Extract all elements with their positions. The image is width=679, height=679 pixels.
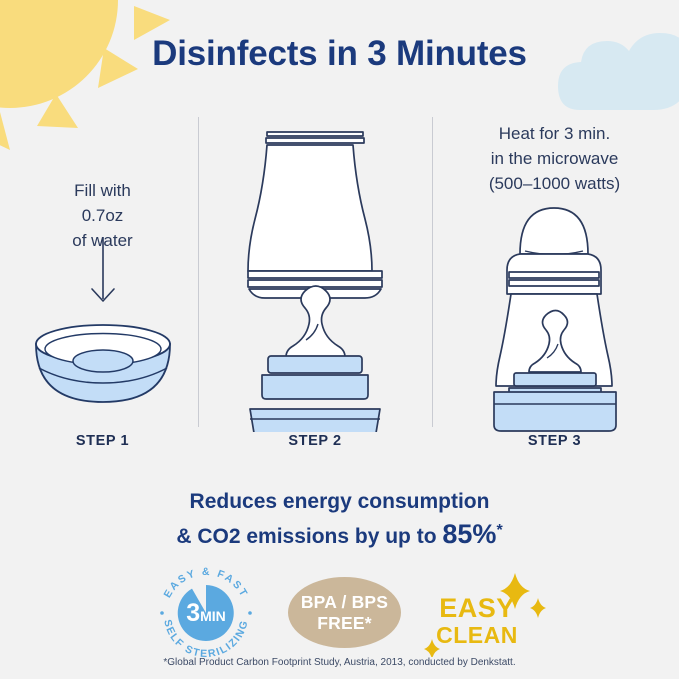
badge-bpa-line-1: BPA / BPS: [301, 592, 388, 613]
eco-claim-value: 85%: [442, 519, 496, 549]
column-divider-2: [432, 117, 433, 427]
step-column-2: STEP 2: [200, 110, 430, 455]
step-1-label: STEP 1: [10, 433, 195, 449]
badge-easy-clean-line-2: CLEAN: [420, 622, 534, 649]
eco-claim: Reduces energy consumption & CO2 emissio…: [0, 487, 679, 551]
step-1-caption-line-1: Fill with: [10, 178, 195, 203]
collar-illustration: [262, 356, 368, 399]
bowl-illustration: [36, 325, 170, 402]
step-1-caption-line-2: 0.7oz: [10, 203, 195, 228]
outer-base-illustration: [494, 392, 616, 431]
footnote: *Global Product Carbon Footprint Study, …: [0, 657, 679, 668]
down-arrow-icon: [92, 237, 114, 301]
step-3-illustration: [437, 192, 672, 437]
badge-easy-clean-line-1: EASY: [420, 595, 534, 622]
bottle-cap-illustration: [520, 208, 588, 255]
badge-easy-clean: EASY CLEAN: [420, 569, 550, 657]
badge-3min: EASY & FAST SELF STERILIZING 3MIN: [156, 567, 256, 659]
eco-claim-prefix: & CO2 emissions by up to: [176, 525, 442, 548]
step-column-3: Heat for 3 min. in the microwave (500–10…: [437, 110, 672, 455]
step-2-label: STEP 2: [200, 433, 430, 449]
step-3-label: STEP 3: [437, 433, 672, 449]
step-3-caption-line-2: in the microwave: [437, 146, 672, 171]
infographic-page: Disinfects in 3 Minutes Fill with 0.7oz …: [0, 0, 679, 679]
step-3-caption-line-1: Heat for 3 min.: [437, 121, 672, 146]
bottle-body-illustration: [248, 132, 382, 298]
eco-claim-asterisk: *: [496, 522, 502, 539]
badge-bpa-line-2: FREE*: [317, 613, 371, 634]
base-cap-illustration: [250, 409, 380, 432]
step-1-illustration: [10, 237, 195, 427]
step-column-1: Fill with 0.7oz of water: [10, 110, 195, 455]
eco-claim-line-2: & CO2 emissions by up to 85%*: [0, 516, 679, 551]
bottle-neck-illustration: [507, 254, 601, 294]
page-title: Disinfects in 3 Minutes: [0, 34, 679, 74]
step-2-illustration: [200, 112, 430, 432]
eco-claim-line-1: Reduces energy consumption: [0, 487, 679, 516]
step-3-caption: Heat for 3 min. in the microwave (500–10…: [437, 121, 672, 196]
badge-easy-clean-text: EASY CLEAN: [420, 595, 534, 649]
column-divider-1: [198, 117, 199, 427]
badge-row: EASY & FAST SELF STERILIZING 3MIN BPA / …: [0, 565, 679, 660]
badge-bpa-bps-free: BPA / BPS FREE*: [288, 577, 401, 648]
